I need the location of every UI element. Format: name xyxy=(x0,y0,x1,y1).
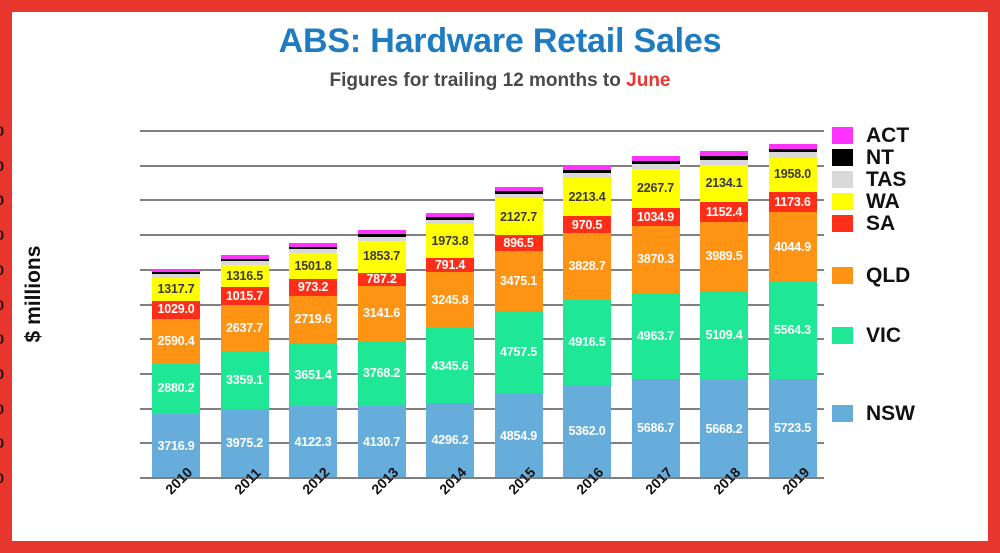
legend-swatch-vic-icon xyxy=(832,327,853,344)
bar-segment-act[interactable] xyxy=(632,156,680,161)
bar-segment-tas[interactable] xyxy=(289,249,337,253)
bar-value-label: 1501.8 xyxy=(294,260,331,273)
legend-swatch-qld-icon xyxy=(832,267,853,284)
bar-value-label: 973.2 xyxy=(298,281,328,294)
bar-group[interactable]: 4854.94757.53475.1896.52127.7 xyxy=(495,131,543,478)
bar-segment-sa[interactable]: 1152.4 xyxy=(700,202,748,222)
legend-label: WA xyxy=(866,191,900,212)
bar-segment-sa[interactable]: 787.2 xyxy=(358,273,406,287)
bar-group[interactable]: 3975.23359.12637.71015.71316.5 xyxy=(221,131,269,478)
bar-segment-vic[interactable]: 4345.6 xyxy=(426,328,474,403)
bar-segment-vic[interactable]: 4963.7 xyxy=(632,293,680,379)
legend-label: NSW xyxy=(866,403,915,424)
bar-segment-sa[interactable]: 970.5 xyxy=(563,216,611,233)
bar-segment-wa[interactable]: 2213.4 xyxy=(563,178,611,216)
bar-value-label: 4044.9 xyxy=(774,241,811,254)
bar-segment-act[interactable] xyxy=(769,144,817,149)
bar-segment-tas[interactable] xyxy=(495,194,543,199)
bar-segment-sa[interactable]: 1034.9 xyxy=(632,208,680,226)
bar-segment-act[interactable] xyxy=(289,243,337,247)
bar-value-label: 2880.2 xyxy=(157,382,194,395)
bar-value-label: 4130.7 xyxy=(363,436,400,449)
bar-value-label: 3245.8 xyxy=(431,294,468,307)
bar-group[interactable]: 5668.25109.43989.51152.42134.1 xyxy=(700,131,748,478)
bar-segment-wa[interactable]: 1853.7 xyxy=(358,241,406,273)
bar-segment-qld[interactable]: 3989.5 xyxy=(700,222,748,291)
bar-segment-vic[interactable]: 3768.2 xyxy=(358,341,406,406)
bar-segment-qld[interactable]: 4044.9 xyxy=(769,212,817,282)
bar-value-label: 2213.4 xyxy=(568,191,605,204)
bar-value-label: 2637.7 xyxy=(226,322,263,335)
legend-item-wa[interactable]: WA xyxy=(832,190,900,212)
bar-group[interactable]: 5686.74963.73870.31034.92267.7 xyxy=(632,131,680,478)
bar-segment-tas[interactable] xyxy=(221,261,269,265)
bar-segment-act[interactable] xyxy=(426,213,474,217)
bar-value-label: 2267.7 xyxy=(637,182,674,195)
bar-segment-wa[interactable]: 1501.8 xyxy=(289,253,337,279)
bar-segment-nt[interactable] xyxy=(495,191,543,194)
bar-segment-tas[interactable] xyxy=(563,173,611,178)
bar-value-label: 787.2 xyxy=(366,273,396,286)
bar-segment-qld[interactable]: 2719.6 xyxy=(289,296,337,343)
bar-value-label: 4296.2 xyxy=(431,434,468,447)
bar-segment-wa[interactable]: 1317.7 xyxy=(152,278,200,301)
legend-swatch-nsw-icon xyxy=(832,405,853,422)
bar-segment-wa[interactable]: 1316.5 xyxy=(221,265,269,288)
bar-segment-vic[interactable]: 3651.4 xyxy=(289,343,337,406)
bar-segment-act[interactable] xyxy=(221,255,269,258)
bar-segment-sa[interactable]: 1173.6 xyxy=(769,192,817,212)
bar-value-label: 3651.4 xyxy=(294,369,331,382)
legend-label: VIC xyxy=(866,325,901,346)
bar-value-label: 2127.7 xyxy=(500,211,537,224)
bar-value-label: 2134.1 xyxy=(705,177,742,190)
bar-segment-act[interactable] xyxy=(358,230,406,234)
bar-segment-vic[interactable]: 5109.4 xyxy=(700,291,748,380)
bar-value-label: 3989.5 xyxy=(705,250,742,263)
plot-area: 3716.92880.22590.41029.01317.73975.23359… xyxy=(140,131,824,478)
bar-segment-tas[interactable] xyxy=(700,160,748,165)
legend-item-tas[interactable]: TAS xyxy=(832,168,906,190)
bar-segment-vic[interactable]: 4757.5 xyxy=(495,311,543,394)
bar-segment-wa[interactable]: 2267.7 xyxy=(632,169,680,208)
legend-item-nsw[interactable]: NSW xyxy=(832,402,915,424)
bar-value-label: 5686.7 xyxy=(637,422,674,435)
legend-item-sa[interactable]: SA xyxy=(832,212,895,234)
legend-swatch-act-icon xyxy=(832,127,853,144)
legend-item-nt[interactable]: NT xyxy=(832,146,894,168)
legend-swatch-nt-icon xyxy=(832,149,853,166)
page-title: ABS: Hardware Retail Sales xyxy=(12,22,988,61)
bar-value-label: 970.5 xyxy=(572,219,602,232)
bar-segment-tas[interactable] xyxy=(632,164,680,169)
bar-segment-vic[interactable]: 4916.5 xyxy=(563,300,611,385)
bar-group[interactable]: 4130.73768.23141.6787.21853.7 xyxy=(358,131,406,478)
legend-swatch-tas-icon xyxy=(832,171,853,188)
bar-value-label: 791.4 xyxy=(435,259,465,272)
bar-value-label: 3141.6 xyxy=(363,307,400,320)
bar-value-label: 5109.4 xyxy=(705,329,742,342)
bar-value-label: 5723.5 xyxy=(774,422,811,435)
bar-segment-act[interactable] xyxy=(563,165,611,170)
bar-segment-nt[interactable] xyxy=(289,247,337,249)
bar-value-label: 4916.5 xyxy=(568,336,605,349)
bar-group[interactable]: 5723.55564.34044.91173.61958.0 xyxy=(769,131,817,478)
bar-group[interactable]: 4296.24345.63245.8791.41973.8 xyxy=(426,131,474,478)
y-tick-label: $14,000 xyxy=(0,227,4,243)
bar-group[interactable]: 4122.33651.42719.6973.21501.8 xyxy=(289,131,337,478)
bar-segment-vic[interactable]: 3359.1 xyxy=(221,351,269,409)
bar-value-label: 1173.6 xyxy=(774,196,810,209)
bar-segment-qld[interactable]: 3870.3 xyxy=(632,226,680,293)
bar-segment-wa[interactable]: 1958.0 xyxy=(769,158,817,192)
bar-segment-nt[interactable] xyxy=(700,156,748,159)
bar-group[interactable]: 5362.04916.53828.7970.52213.4 xyxy=(563,131,611,478)
bar-segment-tas[interactable] xyxy=(426,220,474,224)
bar-value-label: 1029.0 xyxy=(157,303,194,316)
bar-value-label: 4757.5 xyxy=(500,346,537,359)
bar-segment-nt[interactable] xyxy=(152,272,200,274)
bar-segment-qld[interactable]: 2590.4 xyxy=(152,319,200,364)
bar-group[interactable]: 3716.92880.22590.41029.01317.7 xyxy=(152,131,200,478)
bar-segment-tas[interactable] xyxy=(152,274,200,277)
bar-value-label: 5564.3 xyxy=(774,324,811,337)
bar-value-label: 1034.9 xyxy=(637,211,674,224)
bar-segment-nt[interactable] xyxy=(632,161,680,164)
bar-segment-nt[interactable] xyxy=(563,170,611,173)
y-tick-label: $18,000 xyxy=(0,158,4,174)
bar-value-label: 3716.9 xyxy=(157,440,194,453)
legend-swatch-wa-icon xyxy=(832,193,853,210)
bar-value-label: 1973.8 xyxy=(431,235,468,248)
bar-segment-wa[interactable]: 2134.1 xyxy=(700,165,748,202)
bar-value-label: 2719.6 xyxy=(294,313,331,326)
legend-item-qld[interactable]: QLD xyxy=(832,264,910,286)
bar-segment-qld[interactable]: 3828.7 xyxy=(563,233,611,299)
bar-value-label: 3975.2 xyxy=(226,437,263,450)
chart-page: ABS: Hardware Retail Sales Figures for t… xyxy=(0,0,1000,553)
bar-value-label: 3475.1 xyxy=(500,275,537,288)
bar-segment-wa[interactable]: 2127.7 xyxy=(495,198,543,235)
bar-segment-sa[interactable]: 896.5 xyxy=(495,235,543,251)
y-tick-label: $2,000 xyxy=(0,435,4,451)
bar-segment-sa[interactable]: 1015.7 xyxy=(221,287,269,305)
bar-segment-act[interactable] xyxy=(700,151,748,156)
bar-segment-qld[interactable]: 2637.7 xyxy=(221,305,269,351)
y-tick-label: $8,000 xyxy=(0,331,4,347)
y-tick-label: $0 xyxy=(0,470,4,486)
bar-segment-qld[interactable]: 3141.6 xyxy=(358,286,406,341)
y-tick-label: $4,000 xyxy=(0,401,4,417)
bar-segment-qld[interactable]: 3245.8 xyxy=(426,272,474,328)
y-axis-title: $ millions xyxy=(22,214,46,374)
bar-segment-tas[interactable] xyxy=(769,152,817,157)
bar-segment-vic[interactable]: 5564.3 xyxy=(769,282,817,379)
bar-value-label: 3870.3 xyxy=(637,253,674,266)
bar-segment-act[interactable] xyxy=(152,269,200,272)
bar-value-label: 3828.7 xyxy=(568,260,605,273)
bar-value-label: 1316.5 xyxy=(226,270,263,283)
bar-value-label: 5668.2 xyxy=(705,423,742,436)
bar-segment-nt[interactable] xyxy=(221,259,269,261)
bar-segment-vic[interactable]: 2880.2 xyxy=(152,364,200,414)
bar-segment-nt[interactable] xyxy=(358,234,406,237)
bar-segment-nt[interactable] xyxy=(769,149,817,152)
bar-value-label: 1317.7 xyxy=(157,283,194,296)
bar-value-label: 4122.3 xyxy=(294,436,331,449)
bar-segment-act[interactable] xyxy=(495,187,543,191)
legend-label: QLD xyxy=(866,265,910,286)
y-tick-label: $20,000 xyxy=(0,123,4,139)
bar-value-label: 4345.6 xyxy=(431,360,468,373)
bar-segment-qld[interactable]: 3475.1 xyxy=(495,251,543,311)
y-tick-label: $16,000 xyxy=(0,192,4,208)
legend-label: ACT xyxy=(866,125,909,146)
bar-value-label: 896.5 xyxy=(503,237,533,250)
legend-label: TAS xyxy=(866,169,906,190)
bar-segment-sa[interactable]: 973.2 xyxy=(289,279,337,296)
bar-segment-nt[interactable] xyxy=(426,217,474,220)
bar-value-label: 4854.9 xyxy=(500,430,537,443)
bar-segment-wa[interactable]: 1973.8 xyxy=(426,224,474,258)
y-tick-label: $12,000 xyxy=(0,262,4,278)
bar-segment-tas[interactable] xyxy=(358,237,406,241)
legend-label: SA xyxy=(866,213,895,234)
bar-segment-sa[interactable]: 1029.0 xyxy=(152,301,200,319)
bar-segment-sa[interactable]: 791.4 xyxy=(426,258,474,272)
bar-value-label: 5362.0 xyxy=(568,425,605,438)
subtitle-prefix: Figures for trailing 12 months to xyxy=(330,70,627,91)
legend-item-act[interactable]: ACT xyxy=(832,124,909,146)
bar-value-label: 1015.7 xyxy=(226,290,263,303)
bar-value-label: 4963.7 xyxy=(637,330,674,343)
bar-value-label: 3359.1 xyxy=(226,374,263,387)
bar-value-label: 1958.0 xyxy=(774,168,811,181)
legend-swatch-sa-icon xyxy=(832,215,853,232)
y-tick-label: $6,000 xyxy=(0,366,4,382)
bar-value-label: 1152.4 xyxy=(706,206,742,219)
chart-subtitle: Figures for trailing 12 months to June xyxy=(12,70,988,92)
chart-canvas: ABS: Hardware Retail Sales Figures for t… xyxy=(12,12,988,541)
bar-value-label: 1853.7 xyxy=(363,250,400,263)
legend-label: NT xyxy=(866,147,894,168)
bar-value-label: 3768.2 xyxy=(363,367,400,380)
legend-item-vic[interactable]: VIC xyxy=(832,324,901,346)
bar-value-label: 2590.4 xyxy=(157,335,194,348)
subtitle-highlight: June xyxy=(626,70,670,91)
y-axis-ticks: $0$2,000$4,000$6,000$8,000$10,000$12,000… xyxy=(0,131,4,478)
y-tick-label: $10,000 xyxy=(0,297,4,313)
